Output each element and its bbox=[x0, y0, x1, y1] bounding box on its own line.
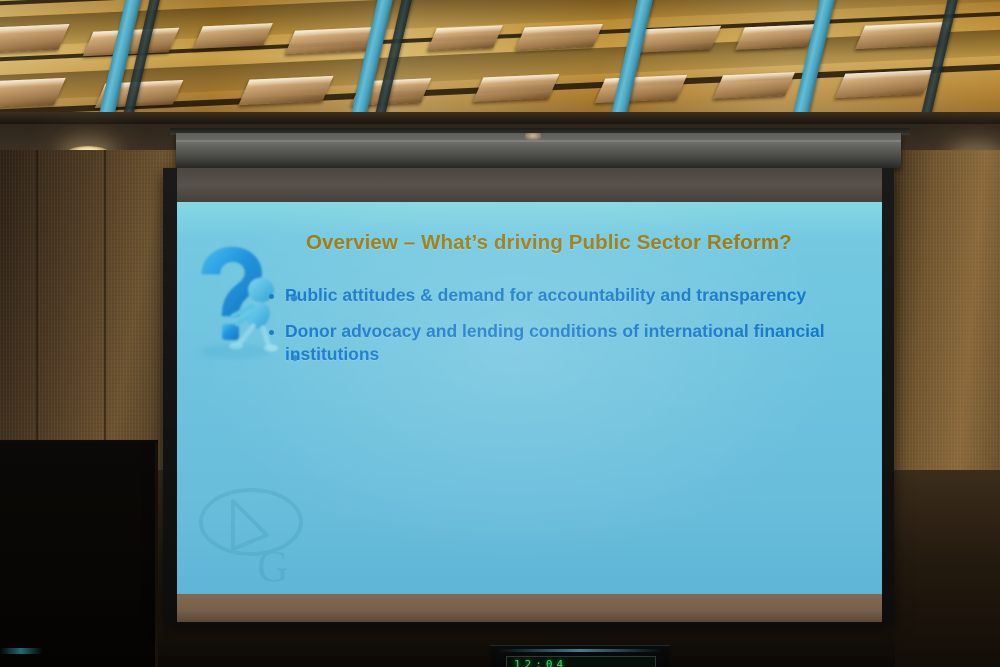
projection-screen-blank-area bbox=[177, 592, 882, 622]
list-item: Public attitudes & demand for accountabi… bbox=[269, 284, 869, 307]
slide-bullet-list: Public attitudes & demand for accountabi… bbox=[269, 284, 869, 379]
rack-display: 12:04 bbox=[506, 656, 656, 667]
ceiling-tile bbox=[515, 24, 603, 50]
rack-sheen bbox=[498, 649, 662, 652]
projection-screen-housing bbox=[176, 133, 901, 168]
oval-g-logo-watermark: G bbox=[195, 477, 325, 592]
ceiling-tile bbox=[239, 76, 334, 105]
bullet-dot-icon bbox=[269, 330, 274, 335]
slide-title: Overview – What’s driving Public Sector … bbox=[306, 231, 846, 255]
wall-texture bbox=[0, 150, 176, 480]
conference-room-photo: Overview – What’s driving Public Sector … bbox=[0, 0, 1000, 667]
ceiling-tile bbox=[735, 24, 817, 50]
logo-icon: G bbox=[195, 477, 325, 592]
rack-indicator-light bbox=[0, 648, 42, 654]
wall-panel-seam bbox=[36, 150, 38, 480]
ceiling-tile bbox=[427, 25, 503, 50]
svg-text:G: G bbox=[257, 542, 289, 591]
wall-panel-seam bbox=[104, 150, 106, 480]
bullet-text: Public attitudes & demand for accountabi… bbox=[285, 284, 806, 307]
list-item: Donor advocacy and lending conditions of… bbox=[269, 320, 869, 366]
ceiling-tile bbox=[835, 70, 934, 98]
bullet-dot-icon bbox=[269, 294, 274, 299]
ceiling-tile bbox=[193, 23, 273, 49]
housing-seam bbox=[176, 140, 901, 142]
bullet-text: Donor advocacy and lending conditions of… bbox=[285, 320, 869, 366]
ceiling-tile bbox=[713, 72, 795, 99]
housing-screw-icon bbox=[525, 133, 541, 140]
black-equipment-panel bbox=[0, 443, 158, 667]
projection-screen-apron bbox=[177, 168, 882, 202]
left-wall bbox=[0, 150, 176, 480]
rack-display-value: 12:04 bbox=[514, 658, 567, 667]
ceiling-tile bbox=[473, 74, 560, 102]
ceiling-tile bbox=[595, 75, 688, 103]
projected-slide: Overview – What’s driving Public Sector … bbox=[177, 202, 882, 594]
ceiling-edge bbox=[0, 112, 1000, 124]
ceiling bbox=[0, 0, 1000, 124]
